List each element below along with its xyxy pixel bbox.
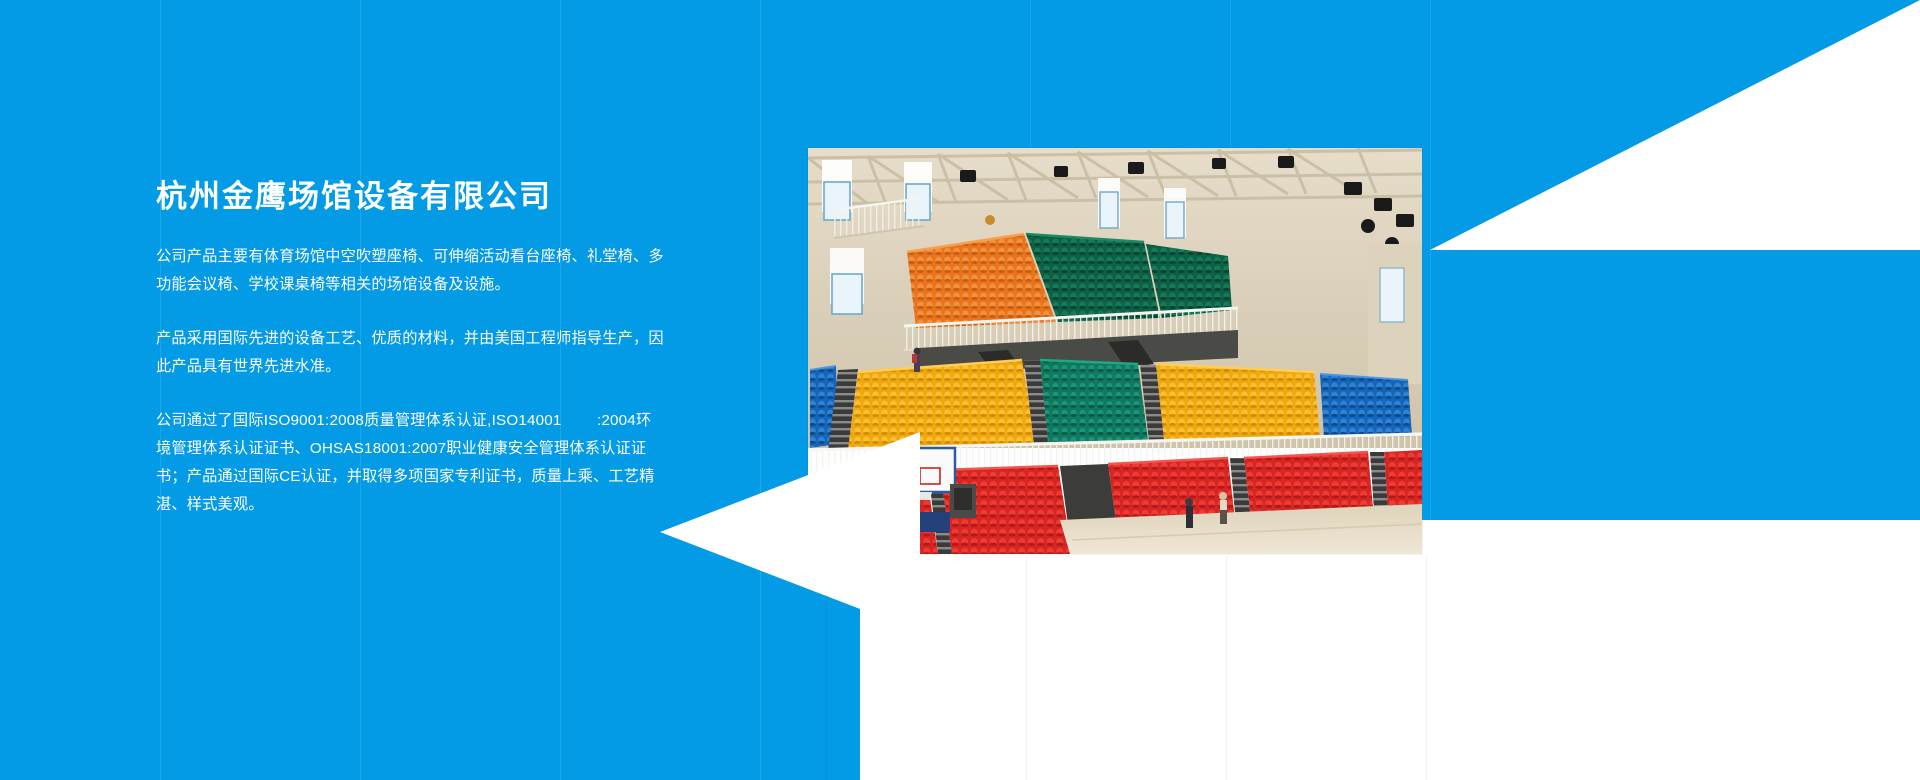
white-bottom-right-panel: [848, 520, 1920, 780]
paragraph-products: 公司产品主要有体育场馆中空吹塑座椅、可伸缩活动看台座椅、礼堂椅、多功能会议椅、学…: [156, 243, 666, 299]
page-title: 杭州金鹰场馆设备有限公司: [156, 178, 666, 217]
paragraph-certifications: 公司通过了国际ISO9001:2008质量管理体系认证,ISO14001 :20…: [156, 407, 666, 519]
hero-banner: 杭州金鹰场馆设备有限公司 公司产品主要有体育场馆中空吹塑座椅、可伸缩活动看台座椅…: [0, 0, 1920, 780]
paragraph-manufacturing: 产品采用国际先进的设备工艺、优质的材料，并由美国工程师指导生产，因此产品具有世界…: [156, 325, 666, 381]
company-copy-block: 杭州金鹰场馆设备有限公司 公司产品主要有体育场馆中空吹塑座椅、可伸缩活动看台座椅…: [156, 178, 666, 519]
